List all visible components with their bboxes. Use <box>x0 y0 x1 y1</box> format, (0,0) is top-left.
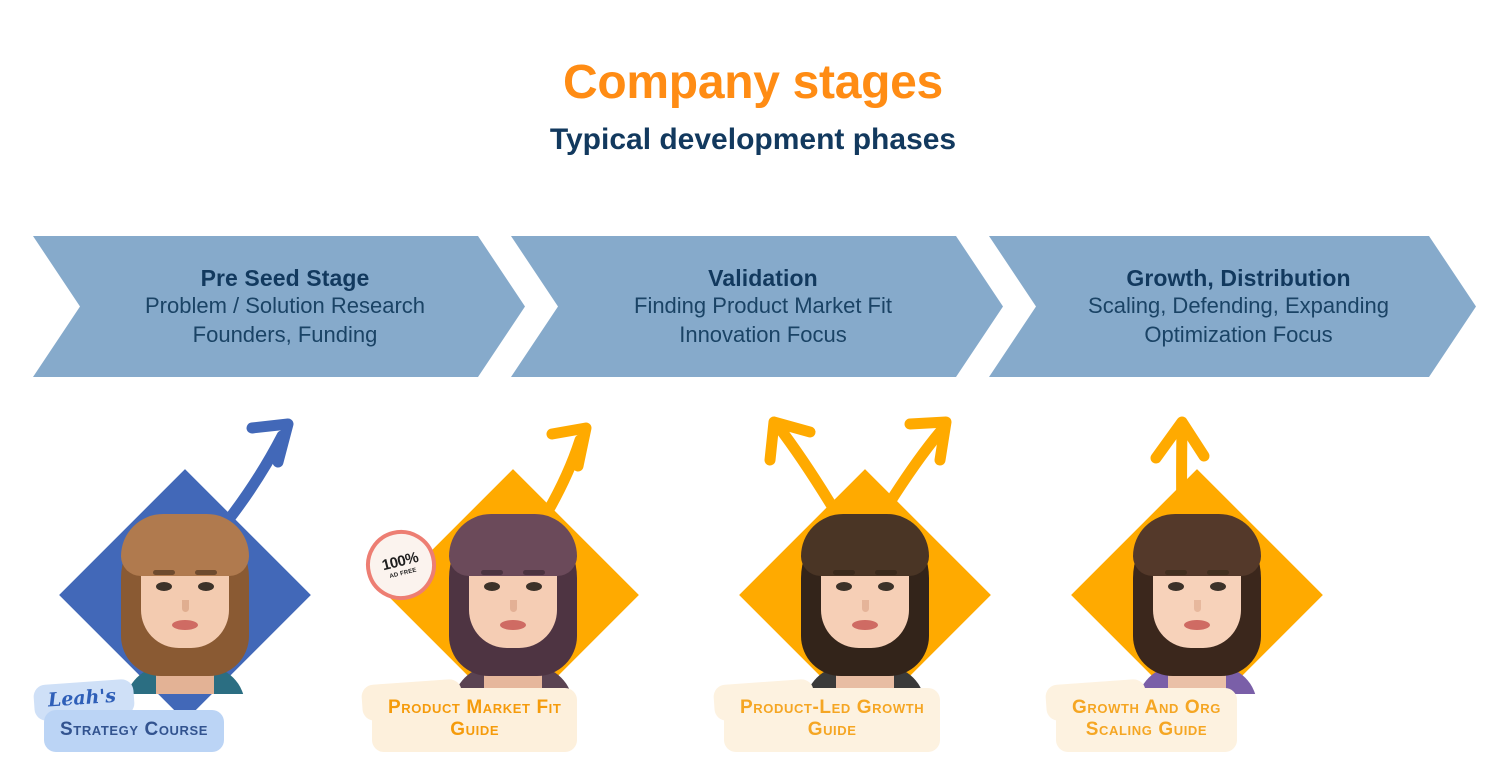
avatar-portrait <box>1129 508 1265 694</box>
page-header: Company stages Typical development phase… <box>0 0 1506 156</box>
badge-title-label[interactable]: Product-Led Growth Guide <box>724 688 940 752</box>
badge-title-line-2: Guide <box>740 719 924 741</box>
badge-title-line-1: Product-Led Growth <box>740 697 924 718</box>
badge-title-line-2: Scaling Guide <box>1072 719 1221 741</box>
stage-detail-line-2: Founders, Funding <box>145 321 425 350</box>
page-subtitle: Typical development phases <box>0 123 1506 157</box>
stage-chevron-growth[interactable]: Growth, Distribution Scaling, Defending,… <box>989 236 1476 377</box>
badge-title-line-1: Strategy Course <box>60 719 208 740</box>
badge-title-line-1: Growth and Org <box>1072 697 1221 718</box>
badge-title-label[interactable]: Strategy Course <box>44 710 224 752</box>
avatar-portrait <box>445 508 581 694</box>
resource-card-growth-and-org-scaling-guide[interactable]: Leah's Growth and Org Scaling Guide <box>1032 388 1362 774</box>
page-title: Company stages <box>0 58 1506 109</box>
stage-detail-line-1: Scaling, Defending, Expanding <box>1088 292 1389 321</box>
stage-chevron-text: Validation Finding Product Market Fit In… <box>586 264 940 349</box>
avatar-portrait <box>797 508 933 694</box>
badge-title-line-1: Product Market Fit <box>388 697 561 718</box>
resource-card-strategy-course[interactable]: Leah's Strategy Course <box>20 388 350 774</box>
stage-chevron-pre-seed[interactable]: Pre Seed Stage Problem / Solution Resear… <box>33 236 525 377</box>
avatar-portrait <box>117 508 253 694</box>
badge-title-label[interactable]: Product Market Fit Guide <box>372 688 577 752</box>
badge-title-label[interactable]: Growth and Org Scaling Guide <box>1056 688 1237 752</box>
stage-title: Pre Seed Stage <box>145 264 425 292</box>
stage-detail-line-1: Problem / Solution Research <box>145 292 425 321</box>
stage-detail-line-2: Innovation Focus <box>634 321 892 350</box>
stage-chevron-text: Growth, Distribution Scaling, Defending,… <box>1040 264 1437 349</box>
resource-card-product-market-fit-guide[interactable]: 100% AD FREE Leah's Product Market Fit G… <box>348 388 678 774</box>
stage-chevron-text: Pre Seed Stage Problem / Solution Resear… <box>97 264 473 349</box>
stage-chevron-validation[interactable]: Validation Finding Product Market Fit In… <box>511 236 1003 377</box>
stage-title: Growth, Distribution <box>1088 264 1389 292</box>
resource-card-product-led-growth-guide[interactable]: Leah's Product-Led Growth Guide <box>700 388 1030 774</box>
badge-title-line-2: Guide <box>388 719 561 741</box>
stage-chevron-band: Pre Seed Stage Problem / Solution Resear… <box>33 236 1476 377</box>
stage-detail-line-1: Finding Product Market Fit <box>634 292 892 321</box>
stage-detail-line-2: Optimization Focus <box>1088 321 1389 350</box>
resource-card-row: Leah's Strategy Course 100% AD FREE <box>0 388 1506 774</box>
stage-title: Validation <box>634 264 892 292</box>
